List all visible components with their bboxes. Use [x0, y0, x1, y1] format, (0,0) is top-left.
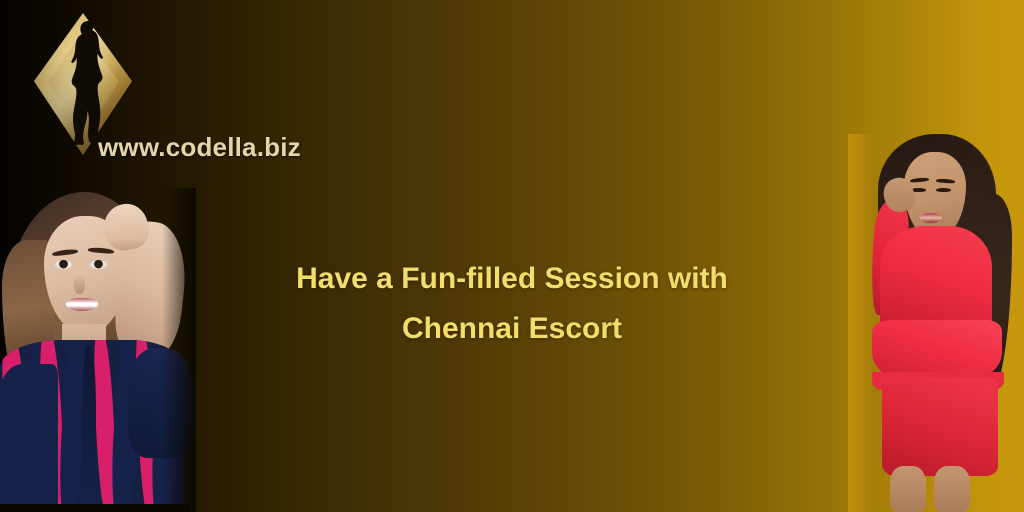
- left-eye-left: [55, 260, 72, 269]
- left-eye-right: [90, 260, 107, 269]
- right-eye-right: [936, 188, 951, 192]
- logo-website-url[interactable]: www.codella.biz: [98, 132, 301, 163]
- right-leg-left: [890, 466, 926, 512]
- right-dress-skirt: [882, 378, 998, 476]
- brand-logo[interactable]: www.codella.biz: [26, 8, 326, 163]
- bottom-dark-edge: [0, 504, 190, 512]
- right-figure: [848, 134, 1024, 512]
- left-top-placket: [82, 346, 96, 512]
- headline-line-1: Have a Fun-filled Session with: [232, 254, 792, 304]
- right-leg-right: [934, 466, 970, 512]
- right-photo-edge-fade: [848, 134, 874, 512]
- promo-banner: www.codella.biz: [0, 0, 1024, 512]
- headline-line-2: Chennai Escort: [232, 304, 792, 354]
- left-shoulder: [0, 364, 58, 512]
- banner-headline: Have a Fun-filled Session with Chennai E…: [232, 254, 792, 354]
- left-photo-edge-fade: [162, 188, 196, 512]
- left-smile: [66, 298, 98, 311]
- left-nose: [74, 274, 85, 294]
- woman-silhouette-icon: [64, 21, 110, 149]
- woman-striped-top-photo: [0, 188, 196, 512]
- right-smile: [920, 213, 942, 223]
- woman-red-dress-photo: [848, 134, 1024, 512]
